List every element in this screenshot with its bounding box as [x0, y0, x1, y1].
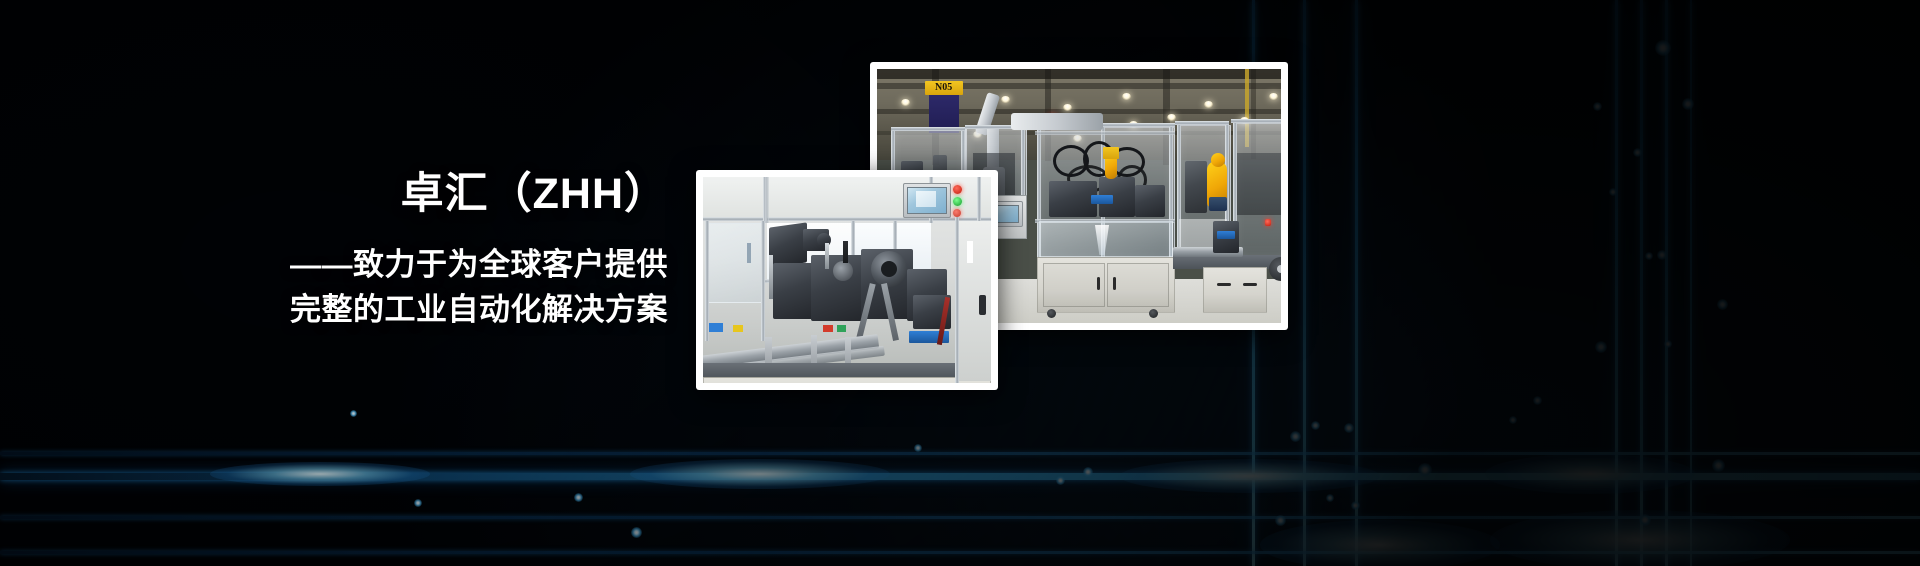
- subtitle-line-2: 完整的工业自动化解决方案: [268, 288, 668, 333]
- assembly-machine-closeup-photo: [696, 170, 998, 390]
- hero-banner: N05: [0, 0, 1920, 566]
- station-sign-label: N05: [935, 82, 952, 93]
- subtitle-line-1: ——致力于为全球客户提供: [268, 243, 668, 288]
- indicator-light-green: [953, 197, 962, 206]
- indicator-light-red: [953, 185, 962, 194]
- page-title: 卓汇（ZHH）: [268, 172, 668, 217]
- camera-head: [769, 222, 807, 267]
- headline-copy-block: 卓汇（ZHH） ——致力于为全球客户提供 完整的工业自动化解决方案: [268, 172, 668, 333]
- indicator-light-stop: [953, 209, 961, 217]
